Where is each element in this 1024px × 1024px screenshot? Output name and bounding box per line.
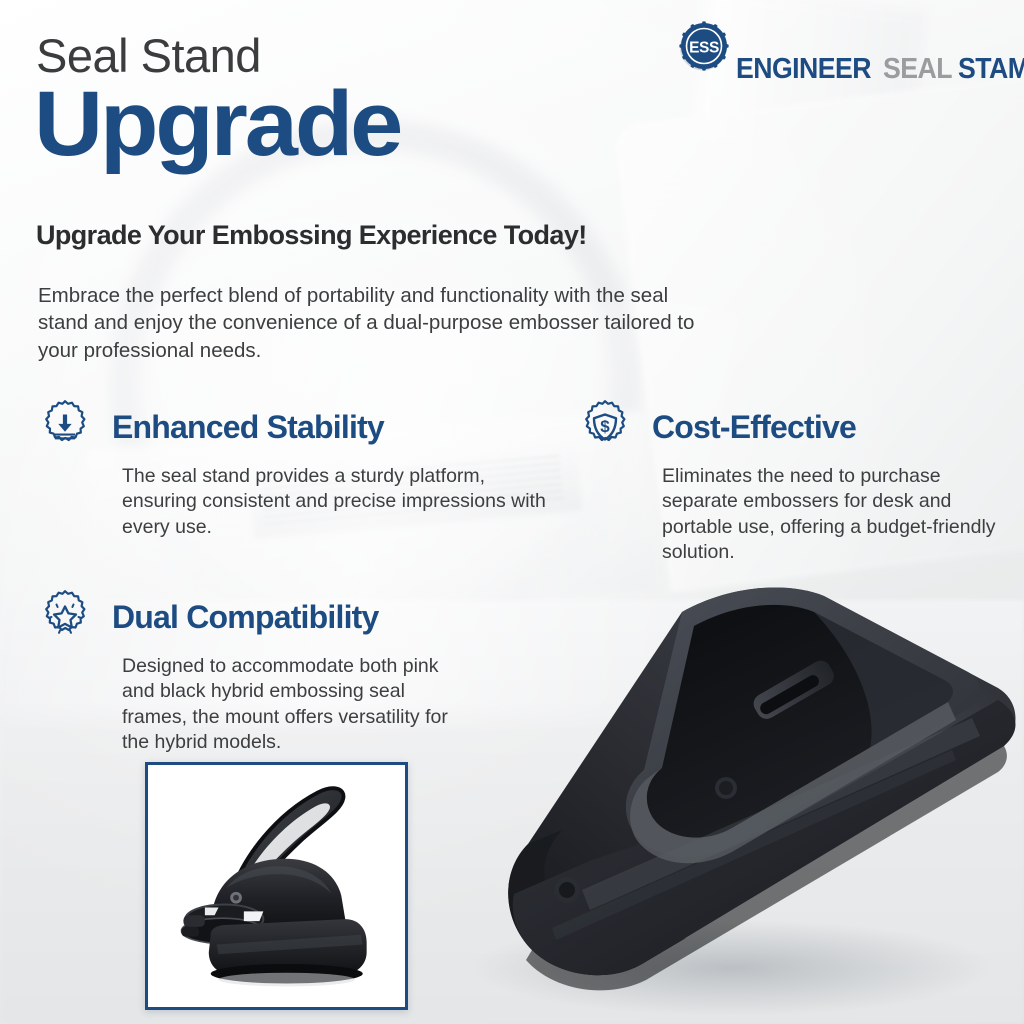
page-title: Upgrade [34, 78, 400, 170]
download-badge-icon [36, 398, 94, 456]
feature-title: Enhanced Stability [112, 409, 384, 446]
inset-product-frame [145, 762, 408, 1010]
feature-cost-effective: $ Cost-Effective Eliminates the need to … [576, 398, 1006, 565]
feature-body: The seal stand provides a sturdy platfor… [122, 464, 552, 540]
intro-paragraph: Embrace the perfect blend of portability… [38, 282, 718, 364]
star-sparkle-badge-icon [36, 588, 94, 646]
brand-wordmark: ENGINEER SEAL STAMPS .COM [736, 10, 1024, 84]
svg-text:$: $ [600, 417, 610, 436]
main-product-photo [432, 560, 1024, 1024]
svg-text:ESS: ESS [689, 40, 719, 57]
shield-dollar-badge-icon: $ [576, 398, 634, 456]
feature-body: Designed to accommodate both pink and bl… [122, 654, 472, 755]
feature-title: Cost-Effective [652, 409, 856, 446]
feature-title: Dual Compatibility [112, 599, 379, 636]
brand-logo[interactable]: ESS ENGINEER SEAL STAMPS .COM [678, 10, 1024, 84]
inset-product-photo [154, 771, 399, 1001]
feature-body: Eliminates the need to purchase separate… [662, 464, 1002, 565]
subheading: Upgrade Your Embossing Experience Today! [36, 220, 587, 251]
feature-header: $ Cost-Effective [576, 398, 1006, 456]
wordmark-seal: SEAL [883, 55, 952, 84]
wordmark-engineer: ENGINEER [736, 55, 871, 84]
ess-gear-badge-icon: ESS [678, 21, 730, 73]
feature-header: Enhanced Stability [36, 398, 556, 456]
feature-enhanced-stability: Enhanced Stability The seal stand provid… [36, 398, 556, 540]
wordmark-stamps: STAMPS [958, 55, 1024, 84]
infographic-page: ESS ENGINEER SEAL STAMPS .COM Seal Stand… [0, 0, 1024, 1024]
